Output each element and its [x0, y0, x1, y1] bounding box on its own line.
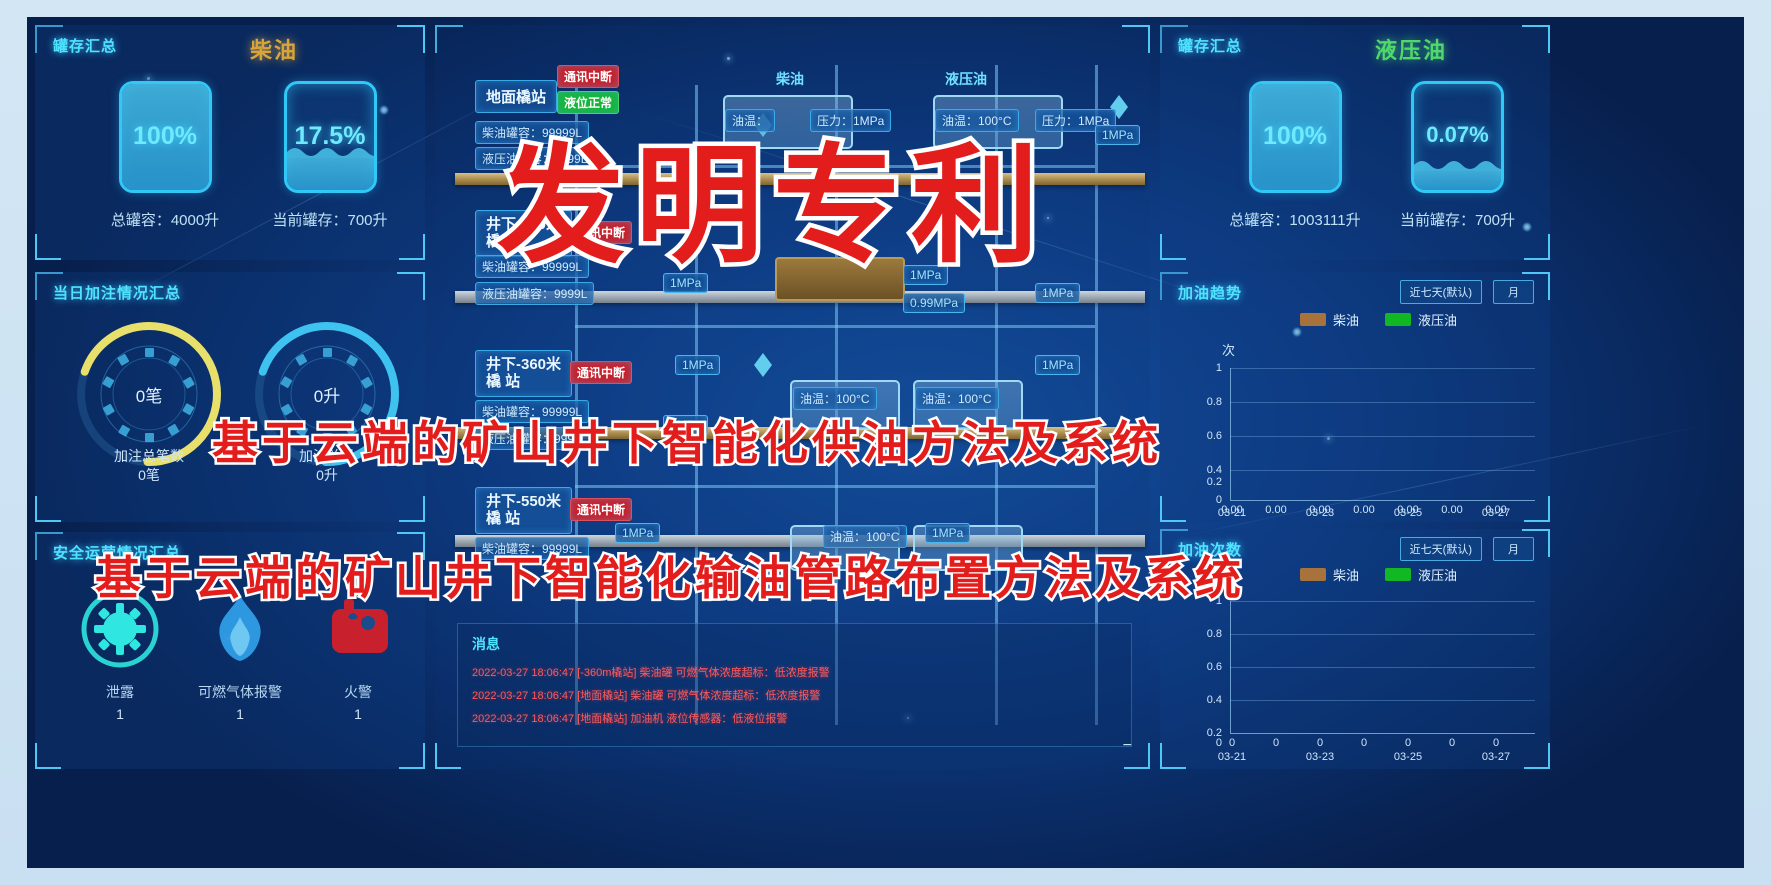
tank-caption: 当前罐存：700升 — [1375, 209, 1540, 230]
chart2-range-week-button[interactable]: 近七天(默认) — [1400, 537, 1482, 561]
station-label-550m[interactable]: 井下-550米 橇 站 — [475, 487, 572, 534]
chart2-point-label: 0 — [1394, 737, 1422, 749]
chart1-ytick: 0.8 — [1188, 396, 1222, 408]
message-row: 2022-03-27 18:06:47 [-360m橇站] 柴油罐 可燃气体浓度… — [472, 664, 1117, 680]
chart1-ytick: 0.6 — [1188, 430, 1222, 442]
watermark-subtitle-2: 基于云端的矿山井下智能化输油管路布置方法及系统 — [95, 542, 1245, 608]
tank-widget-total-capacity-right: 100% 总罐容：1003111升 — [1210, 81, 1380, 230]
panel-left-refuel-summary: 当日加注情况汇总 0笔 加注总笔数 0笔 — [35, 272, 425, 522]
chart2-point-label: 0 — [1482, 737, 1510, 749]
tank-caption: 当前罐存：700升 — [250, 209, 410, 230]
tank-kind-label-diesel: 柴油 — [250, 33, 298, 65]
station-label-360m[interactable]: 井下-360米 橇 站 — [475, 350, 572, 397]
chart1-gridline — [1230, 470, 1535, 471]
panel-title-tank-summary-left: 罐存汇总 — [53, 35, 117, 56]
message-panel-title: 消息 — [472, 634, 1117, 654]
chart1-xtick: 03-23 — [1300, 507, 1340, 519]
dashboard-screen: 罐存汇总 柴油 100% 总罐容：4000升 17.5% 当前罐存：700升 当… — [27, 17, 1744, 868]
chart2-gridline — [1230, 667, 1535, 668]
chart1-gridline — [1230, 402, 1535, 403]
tank-caption: 总罐容：1003111升 — [1210, 209, 1380, 230]
dial-caption-count: 加注总笔数 0笔 — [64, 447, 234, 485]
tank-gauge: 17.5% — [284, 81, 377, 193]
panel-title-refuel-summary: 当日加注情况汇总 — [53, 282, 181, 303]
tank-widget-current-stock-left: 17.5% 当前罐存：700升 — [250, 81, 410, 230]
tank-widget-current-stock-right: 0.07% 当前罐存：700升 — [1375, 81, 1540, 230]
panel-left-tank-summary: 罐存汇总 柴油 100% 总罐容：4000升 17.5% 当前罐存：700升 — [35, 25, 425, 260]
pipe-segment — [575, 325, 1095, 328]
valve-icon — [754, 353, 772, 365]
chart2-xtick: 03-25 — [1388, 751, 1428, 763]
chart2-range-month-button[interactable]: 月 — [1493, 537, 1534, 561]
chart2-point-label: 0 — [1350, 737, 1378, 749]
chart2-legend-diesel[interactable]: 柴油 — [1300, 565, 1359, 584]
chart2-point-label: 0 — [1438, 737, 1466, 749]
chart2-xtick: 03-27 — [1476, 751, 1516, 763]
watermark-patent-title: 发明专利 — [497, 102, 1049, 287]
pressure-tag: 1MPa — [1035, 355, 1080, 375]
legend-swatch-hydraulic — [1385, 568, 1411, 581]
tank-wave-icon — [1414, 157, 1504, 171]
dial-caption-line2: 0笔 — [64, 466, 234, 485]
chart1-xtick: 03-21 — [1212, 507, 1252, 519]
safety-count: 1 — [55, 706, 185, 722]
legend-swatch-diesel — [1300, 568, 1326, 581]
station-status-comm-1: 通讯中断 — [557, 65, 619, 88]
chart1-range-month-button[interactable]: 月 — [1493, 280, 1534, 304]
chart1-y-axis — [1230, 368, 1231, 500]
valve-icon — [1110, 95, 1128, 107]
tank-fill-level — [1414, 171, 1501, 190]
pressure-tag: 0.99MPa — [903, 293, 965, 313]
chart1-point-label: 0.00 — [1350, 504, 1378, 516]
panel-title-chart1: 加油趋势 — [1178, 282, 1242, 303]
watermark-subtitle-1: 基于云端的矿山井下智能化供油方法及系统 — [212, 407, 1162, 473]
station-status-comm-4: 通讯中断 — [570, 498, 632, 521]
chart1-legend-diesel[interactable]: 柴油 — [1300, 310, 1359, 329]
dial-value: 0笔 — [75, 320, 223, 468]
chart1-legend-hydraulic[interactable]: 液压油 — [1385, 310, 1457, 329]
chart2-xtick: 03-21 — [1212, 751, 1252, 763]
tank-gauge: 100% — [1249, 81, 1342, 193]
chart2-point-label: 0 — [1262, 737, 1290, 749]
tank-fill-level — [287, 158, 374, 190]
safety-label: 火警 — [293, 682, 423, 702]
panel-title-tank-summary-right: 罐存汇总 — [1178, 35, 1242, 56]
tank-gauge: 100% — [119, 81, 212, 193]
chart1-gridline — [1230, 436, 1535, 437]
safety-label: 可燃气体报警 — [175, 682, 305, 702]
legend-label-diesel: 柴油 — [1333, 565, 1359, 584]
chart1-y-axis-unit: 次 — [1222, 340, 1235, 359]
pressure-tag: 1MPa — [1095, 125, 1140, 145]
panel-chart-refuel-trend: 加油趋势 近七天(默认) 月 柴油 液压油 次 1 0.8 0.6 0.4 0.… — [1160, 272, 1550, 522]
chart2-ytick: 0 — [1188, 737, 1222, 749]
pressure-tag: 1MPa — [925, 523, 970, 543]
chart2-ytick: 0.8 — [1188, 628, 1222, 640]
schematic-header-diesel: 柴油 — [776, 69, 804, 89]
message-row: 2022-03-27 18:06:47 [地面橇站] 加油机 液位传感器：低液位… — [472, 710, 1117, 726]
chart2-xtick: 03-23 — [1300, 751, 1340, 763]
legend-label-diesel: 柴油 — [1333, 310, 1359, 329]
safety-count: 1 — [293, 706, 423, 722]
chart2-legend-hydraulic[interactable]: 液压油 — [1385, 565, 1457, 584]
chart2-ytick: 0.6 — [1188, 661, 1222, 673]
tank-caption: 总罐容：4000升 — [90, 209, 240, 230]
tank-percent-value: 0.07% — [1414, 122, 1501, 148]
station-status-comm-3: 通讯中断 — [570, 361, 632, 384]
chart2-y-axis — [1230, 601, 1231, 733]
tank-gauge: 0.07% — [1411, 81, 1504, 193]
schematic-header-hydraulic: 液压油 — [945, 69, 987, 89]
safety-label: 泄露 — [55, 682, 185, 702]
collapse-icon[interactable]: − — [1123, 737, 1132, 755]
panel-right-tank-summary: 罐存汇总 液压油 100% 总罐容：1003111升 0.07% 当前罐存：70… — [1160, 25, 1550, 260]
legend-label-hydraulic: 液压油 — [1418, 310, 1457, 329]
tank-percent-value: 100% — [1252, 122, 1339, 151]
tank-percent-value: 100% — [122, 122, 209, 151]
chart1-x-axis — [1230, 500, 1535, 501]
chart1-ytick: 0 — [1188, 494, 1222, 506]
app-root: 罐存汇总 柴油 100% 总罐容：4000升 17.5% 当前罐存：700升 当… — [0, 0, 1771, 885]
legend-swatch-diesel — [1300, 313, 1326, 326]
chart2-gridline — [1230, 601, 1535, 602]
pipe-segment — [575, 485, 1095, 488]
chart2-x-axis — [1230, 733, 1535, 734]
message-row: 2022-03-27 18:06:47 [地面橇站] 柴油罐 可燃气体浓度超标：… — [472, 687, 1117, 703]
tank-widget-total-capacity-left: 100% 总罐容：4000升 — [90, 81, 240, 230]
chart1-xtick: 03-27 — [1476, 507, 1516, 519]
legend-label-hydraulic: 液压油 — [1418, 565, 1457, 584]
chart2-ytick: 0.4 — [1188, 694, 1222, 706]
chart1-point-label: 0.00 — [1262, 504, 1290, 516]
chart1-xtick: 03-25 — [1388, 507, 1428, 519]
pressure-tag: 1MPa — [675, 355, 720, 375]
chart1-ytick: 1 — [1188, 362, 1222, 374]
chart1-point-label: 0.00 — [1438, 504, 1466, 516]
tank-kind-label-hydraulic: 液压油 — [1375, 33, 1447, 65]
dial-caption-line1: 加注总笔数 — [64, 447, 234, 466]
chart2-gridline — [1230, 700, 1535, 701]
message-panel: 消息 2022-03-27 18:06:47 [-360m橇站] 柴油罐 可燃气… — [457, 623, 1132, 747]
chart2-point-label: 0 — [1306, 737, 1334, 749]
tank-percent-value: 17.5% — [287, 122, 374, 151]
chart1-ytick: 0.2 — [1188, 476, 1222, 488]
legend-swatch-hydraulic — [1385, 313, 1411, 326]
safety-count: 1 — [175, 706, 305, 722]
dial-total-refuel-count: 0笔 — [75, 320, 223, 468]
pressure-tag: 1MPa — [615, 523, 660, 543]
chart2-point-label: 0 — [1218, 737, 1246, 749]
chart1-ytick: 0.4 — [1188, 464, 1222, 476]
chart1-gridline — [1230, 368, 1535, 369]
chart1-range-week-button[interactable]: 近七天(默认) — [1400, 280, 1482, 304]
chart2-gridline — [1230, 634, 1535, 635]
valve-icon — [754, 365, 772, 377]
